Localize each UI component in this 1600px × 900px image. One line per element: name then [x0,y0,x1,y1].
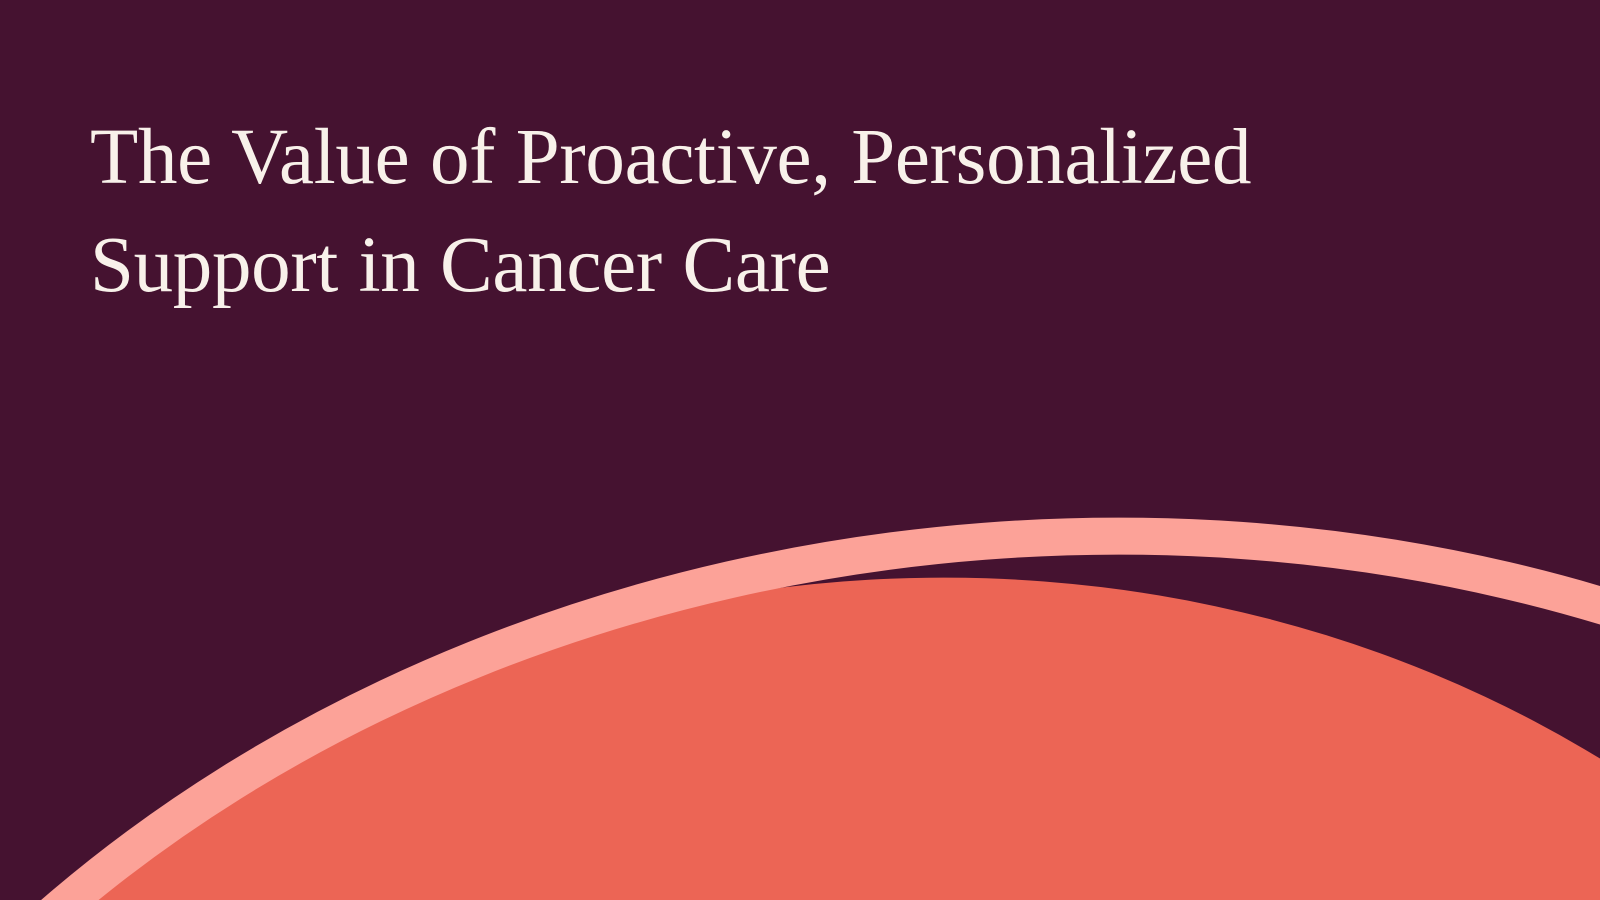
title-slide: The Value of Proactive, Personalized Sup… [0,0,1600,900]
coral-ellipse [0,514,1600,900]
page-title: The Value of Proactive, Personalized Sup… [90,104,1510,320]
title-block: The Value of Proactive, Personalized Sup… [90,104,1510,320]
pink-arc-band [0,434,1600,900]
